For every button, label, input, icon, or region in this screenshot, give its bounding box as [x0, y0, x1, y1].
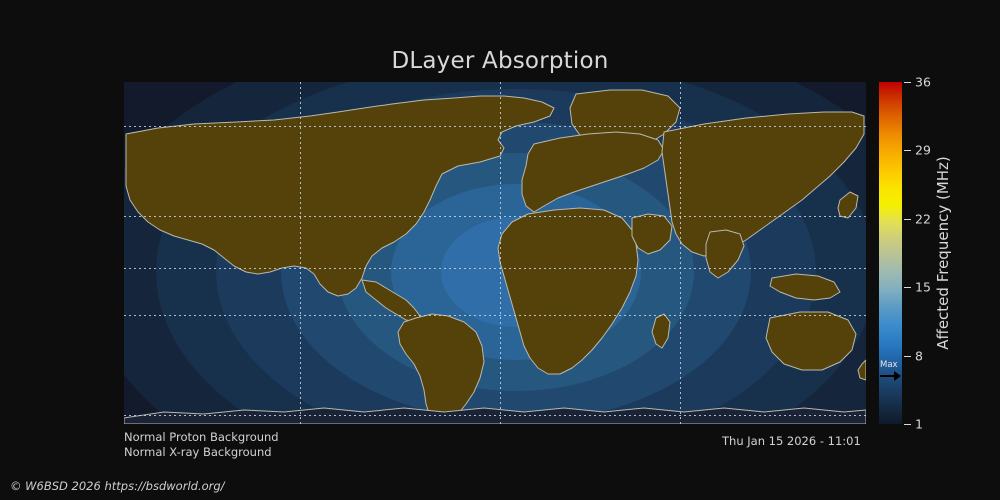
world-map[interactable] [124, 82, 866, 424]
landmass-india [706, 230, 744, 278]
colorbar-tick-8 [904, 356, 911, 357]
colorbar-max-label: Max [880, 360, 898, 370]
dlayer-absorption-screen: DLayer Absorption [0, 0, 1000, 500]
landmass-africa [498, 208, 638, 374]
colorbar-label-36: 36 [915, 75, 931, 90]
gridline-longitude-west-90 [300, 82, 301, 424]
colorbar-tick-1 [904, 424, 911, 425]
landmass-new-zealand [858, 360, 866, 380]
copyright-footer: © W6BSD 2026 https://bsdworld.org/ [10, 479, 225, 493]
colorbar-label-29: 29 [915, 143, 931, 158]
colorbar-max-marker: Max [879, 361, 902, 383]
colorbar-tick-36 [904, 82, 911, 83]
gridline-longitude-0 [500, 82, 501, 424]
coastline-layer [124, 82, 866, 424]
colorbar[interactable]: Max 36 29 22 15 8 1 [879, 82, 902, 424]
gridline-tropic-of-cancer [124, 216, 866, 217]
landmass-japan [838, 192, 858, 218]
colorbar-tick-29 [904, 150, 911, 151]
gridline-longitude-east-90 [680, 82, 681, 424]
colorbar-tick-15 [904, 287, 911, 288]
gridline-equator [124, 268, 866, 269]
timestamp-label: Thu Jan 15 2026 - 11:01 [722, 434, 861, 448]
landmass-australia [766, 312, 856, 370]
landmass-antarctica [124, 408, 866, 424]
map-canvas [124, 82, 866, 424]
xray-background-note: Normal X-ray Background [124, 445, 272, 459]
landmass-south-america [398, 314, 484, 422]
proton-background-note: Normal Proton Background [124, 430, 279, 444]
colorbar-label-1: 1 [915, 417, 923, 432]
colorbar-tick-22 [904, 219, 911, 220]
landmass-madagascar [652, 314, 670, 348]
page-title: DLayer Absorption [0, 48, 1000, 74]
colorbar-label-15: 15 [915, 280, 931, 295]
gridline-antarctic-circle [124, 415, 866, 416]
landmass-arabia [632, 214, 672, 254]
landmass-europe [522, 132, 664, 212]
landmass-indonesia [770, 274, 840, 300]
gridline-arctic-circle [124, 126, 866, 127]
max-arrow-head-icon [894, 371, 901, 381]
landmass-asia [662, 112, 864, 256]
gridline-tropic-of-capricorn [124, 315, 866, 316]
colorbar-axis-title: Affected Frequency (MHz) [930, 82, 956, 424]
colorbar-label-8: 8 [915, 349, 923, 364]
colorbar-label-22: 22 [915, 212, 931, 227]
